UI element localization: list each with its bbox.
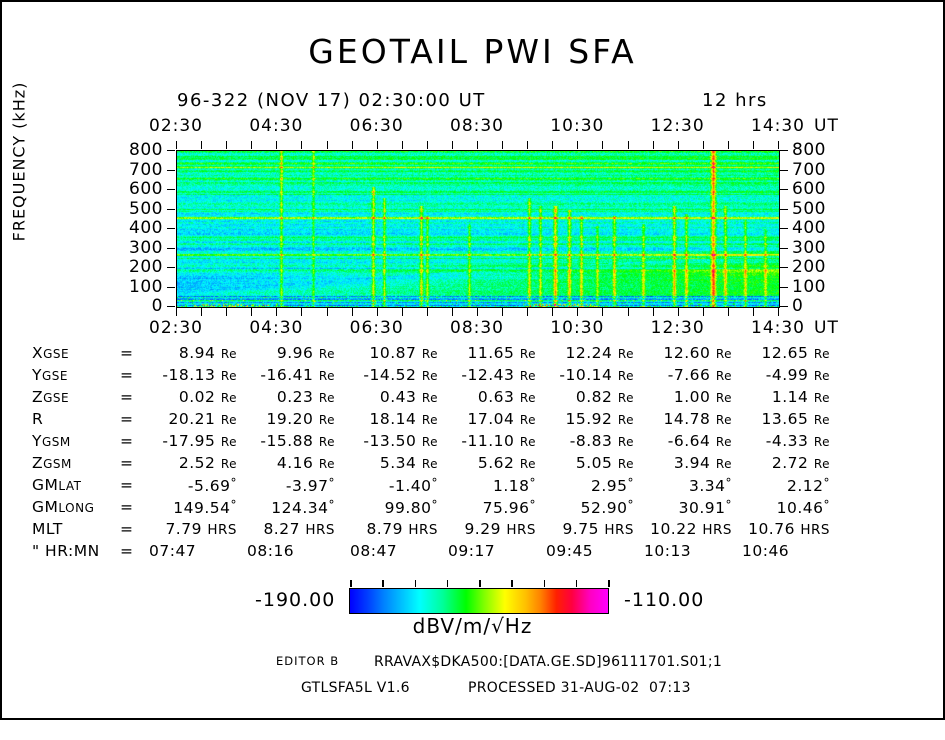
- x-tick-bottom-21: [703, 308, 704, 316]
- y-tick-left-1: [167, 170, 175, 171]
- ephemeris-table: XGSE=8.94 Re9.96 Re10.87 Re11.65 Re12.24…: [32, 344, 922, 564]
- footer-line-1: EDITOR B RRAVAX$DKA500:[DATA.GE.SD]96111…: [2, 654, 943, 680]
- ephemeris-cell: -10.14 Re: [544, 366, 634, 384]
- ephemeris-cell: 5.62 Re: [446, 454, 536, 472]
- y-tick-right-8: [780, 306, 788, 307]
- ephemeris-cell: 2.72 Re: [740, 454, 830, 472]
- ephemeris-cell: -17.95 Re: [147, 432, 237, 450]
- ephemeris-cell: 2.95°: [562, 476, 634, 495]
- ephemeris-cell: 8.27 HRS: [245, 520, 335, 538]
- ut-label-top: UT: [814, 116, 839, 136]
- ephemeris-row-label: YGSM: [32, 432, 71, 450]
- ephemeris-cell: 13.65 Re: [740, 410, 830, 428]
- ephemeris-unit: Re: [814, 457, 830, 471]
- y-tick-right-6: [780, 267, 788, 268]
- degree-symbol: °: [231, 498, 238, 512]
- ephemeris-row: YGSM=-17.95 Re-15.88 Re-13.50 Re-11.10 R…: [32, 432, 922, 454]
- ephemeris-cell: -14.52 Re: [348, 366, 438, 384]
- freq-tick-left-3: 500: [103, 199, 163, 219]
- colorbar-tick-1: [382, 580, 384, 587]
- observation-datetime: 96-322 (NOV 17) 02:30:00 UT: [177, 90, 486, 111]
- x-tick-top-1: [201, 141, 202, 149]
- ephemeris-cell: -12.43 Re: [446, 366, 536, 384]
- colorbar-tick-6: [544, 580, 546, 587]
- ephemeris-cell: 99.80°: [366, 498, 438, 517]
- y-tick-left-0: [167, 150, 175, 151]
- x-tick-bottom-7: [352, 308, 353, 316]
- freq-tick-right-2: 600: [792, 179, 852, 199]
- ephemeris-equals: =: [120, 388, 134, 406]
- ephemeris-cell: 9.29 HRS: [446, 520, 536, 538]
- colorbar-max-label: -110.00: [624, 589, 704, 611]
- ephemeris-cell: 09:17: [448, 542, 536, 560]
- ephemeris-cell: -11.10 Re: [446, 432, 536, 450]
- x-tick-top-18: [628, 141, 629, 149]
- ephemeris-equals: =: [120, 498, 134, 516]
- freq-tick-left-4: 400: [103, 218, 163, 238]
- ephemeris-cell: -3.97°: [263, 476, 335, 495]
- x-tick-top-13: [502, 141, 503, 149]
- y-tick-left-3: [167, 209, 175, 210]
- ephemeris-unit: Re: [520, 347, 536, 361]
- x-tick-bottom-1: [201, 308, 202, 316]
- y-tick-right-0: [780, 150, 788, 151]
- ephemeris-row: ZGSM=2.52 Re4.16 Re5.34 Re5.62 Re5.05 Re…: [32, 454, 922, 476]
- colorbar-section: -190.00 -110.00 dBV/m/√Hz: [2, 584, 943, 634]
- ephemeris-equals: =: [120, 520, 134, 538]
- ephemeris-cell: 08:16: [247, 542, 335, 560]
- ephemeris-unit: Re: [520, 413, 536, 427]
- processed-timestamp: PROCESSED 31-AUG-02 07:13: [468, 680, 691, 696]
- y-tick-right-7: [780, 287, 788, 288]
- ephemeris-unit: Re: [520, 369, 536, 383]
- ephemeris-unit: Re: [221, 413, 237, 427]
- ephemeris-row-label: GMLAT: [32, 476, 81, 494]
- freq-tick-left-2: 600: [103, 179, 163, 199]
- ephemeris-cell: -13.50 Re: [348, 432, 438, 450]
- ephemeris-cell: 08:47: [350, 542, 438, 560]
- x-tick-top-9: [402, 141, 403, 149]
- x-tick-bottom-17: [602, 308, 603, 316]
- y-tick-left-5: [167, 248, 175, 249]
- ephemeris-cell: 52.90°: [562, 498, 634, 517]
- ephemeris-unit: Re: [814, 369, 830, 383]
- time-tick-bottom-1: 04:30: [249, 318, 303, 338]
- ephemeris-cell: 5.05 Re: [544, 454, 634, 472]
- ephemeris-cell: 5.34 Re: [348, 454, 438, 472]
- x-tick-bottom-6: [327, 308, 328, 316]
- ephemeris-unit: Re: [520, 435, 536, 449]
- ephemeris-row: " HR:MN=07:4708:1608:4709:1709:4510:1310…: [32, 542, 922, 564]
- degree-symbol: °: [628, 476, 635, 490]
- ephemeris-cell: -18.13 Re: [147, 366, 237, 384]
- time-tick-top-5: 12:30: [651, 116, 705, 136]
- ephemeris-row: GMLONG=149.54°124.34°99.80°75.96°52.90°3…: [32, 498, 922, 520]
- ephemeris-unit: Re: [221, 435, 237, 449]
- ephemeris-row: YGSE=-18.13 Re-16.41 Re-14.52 Re-12.43 R…: [32, 366, 922, 388]
- ephemeris-unit: Re: [618, 347, 634, 361]
- x-tick-top-3: [251, 141, 252, 149]
- ephemeris-cell: 20.21 Re: [147, 410, 237, 428]
- ephemeris-equals: =: [120, 542, 134, 560]
- ephemeris-unit: Re: [221, 457, 237, 471]
- freq-tick-left-6: 200: [103, 257, 163, 277]
- ephemeris-cell: 0.43 Re: [348, 388, 438, 406]
- degree-symbol: °: [726, 498, 733, 512]
- ephemeris-unit: HRS: [800, 522, 830, 538]
- degree-symbol: °: [726, 476, 733, 490]
- ephemeris-cell: 75.96°: [464, 498, 536, 517]
- ephemeris-unit: HRS: [702, 522, 732, 538]
- ephemeris-equals: =: [120, 432, 134, 450]
- x-tick-top-2: [226, 141, 227, 149]
- ephemeris-cell: 9.96 Re: [245, 344, 335, 362]
- ephemeris-unit: HRS: [408, 522, 438, 538]
- ephemeris-unit: Re: [319, 457, 335, 471]
- y-tick-right-2: [780, 189, 788, 190]
- ephemeris-row-label: " HR:MN: [32, 542, 100, 560]
- ephemeris-unit: Re: [814, 391, 830, 405]
- ephemeris-cell: 2.52 Re: [147, 454, 237, 472]
- ephemeris-row-label: MLT: [32, 520, 63, 538]
- ephemeris-unit: Re: [422, 413, 438, 427]
- freq-tick-right-8: 0: [792, 296, 852, 316]
- x-tick-bottom-23: [753, 308, 754, 316]
- x-tick-top-22: [728, 141, 729, 149]
- ephemeris-cell: 0.82 Re: [544, 388, 634, 406]
- ephemeris-unit: Re: [319, 347, 335, 361]
- x-tick-top-23: [753, 141, 754, 149]
- freq-tick-left-7: 100: [103, 277, 163, 297]
- subtitle-row: 96-322 (NOV 17) 02:30:00 UT 12 hrs: [2, 90, 943, 112]
- ephemeris-unit: HRS: [604, 522, 634, 538]
- degree-symbol: °: [824, 498, 831, 512]
- ephemeris-unit: Re: [422, 435, 438, 449]
- ephemeris-cell: 8.79 HRS: [348, 520, 438, 538]
- freq-tick-left-8: 0: [103, 296, 163, 316]
- ephemeris-equals: =: [120, 366, 134, 384]
- y-tick-right-3: [780, 209, 788, 210]
- freq-tick-right-7: 100: [792, 277, 852, 297]
- x-tick-top-24: [778, 141, 779, 149]
- degree-symbol: °: [628, 498, 635, 512]
- degree-symbol: °: [530, 498, 537, 512]
- time-axis-bottom: UT 02:3004:3006:3008:3010:3012:3014:30: [2, 318, 945, 338]
- y-tick-right-4: [780, 228, 788, 229]
- ephemeris-unit: Re: [520, 391, 536, 405]
- ephemeris-unit: Re: [618, 457, 634, 471]
- time-tick-bottom-2: 06:30: [350, 318, 404, 338]
- ephemeris-cell: -4.33 Re: [740, 432, 830, 450]
- ephemeris-cell: 2.12°: [758, 476, 830, 495]
- x-tick-top-16: [577, 141, 578, 149]
- colorbar-gradient: [349, 588, 609, 614]
- y-tick-left-4: [167, 228, 175, 229]
- x-tick-bottom-2: [226, 308, 227, 316]
- x-tick-bottom-11: [452, 308, 453, 316]
- ephemeris-row: MLT=7.79 HRS8.27 HRS8.79 HRS9.29 HRS9.75…: [32, 520, 922, 542]
- ephemeris-unit: Re: [221, 391, 237, 405]
- ephemeris-unit: Re: [716, 391, 732, 405]
- x-tick-bottom-16: [577, 308, 578, 316]
- ephemeris-equals: =: [120, 454, 134, 472]
- x-tick-top-7: [352, 141, 353, 149]
- ephemeris-row: ZGSE=0.02 Re0.23 Re0.43 Re0.63 Re0.82 Re…: [32, 388, 922, 410]
- ephemeris-row-label: YGSE: [32, 366, 68, 384]
- x-tick-top-8: [377, 141, 378, 149]
- time-tick-bottom-3: 08:30: [450, 318, 504, 338]
- degree-symbol: °: [824, 476, 831, 490]
- footer: EDITOR B RRAVAX$DKA500:[DATA.GE.SD]96111…: [2, 654, 943, 706]
- ephemeris-cell: 124.34°: [263, 498, 335, 517]
- x-tick-bottom-20: [678, 308, 679, 316]
- ephemeris-equals: =: [120, 410, 134, 428]
- ephemeris-unit: Re: [716, 435, 732, 449]
- ephemeris-row: XGSE=8.94 Re9.96 Re10.87 Re11.65 Re12.24…: [32, 344, 922, 366]
- ephemeris-cell: 15.92 Re: [544, 410, 634, 428]
- x-tick-top-17: [602, 141, 603, 149]
- x-tick-top-20: [678, 141, 679, 149]
- ephemeris-unit: Re: [716, 413, 732, 427]
- x-tick-bottom-8: [377, 308, 378, 316]
- page-title: GEOTAIL PWI SFA: [2, 32, 943, 71]
- degree-symbol: °: [231, 476, 238, 490]
- x-tick-bottom-19: [653, 308, 654, 316]
- x-tick-top-4: [276, 141, 277, 149]
- ephemeris-cell: 0.63 Re: [446, 388, 536, 406]
- ephemeris-cell: 9.75 HRS: [544, 520, 634, 538]
- ephemeris-unit: Re: [716, 369, 732, 383]
- ephemeris-cell: -15.88 Re: [245, 432, 335, 450]
- y-axis-label: FREQUENCY (kHz): [10, 82, 29, 242]
- ephemeris-row-label: ZGSM: [32, 454, 72, 472]
- time-tick-top-4: 10:30: [550, 116, 604, 136]
- x-tick-bottom-5: [301, 308, 302, 316]
- colorbar-unit-label: dBV/m/√Hz: [2, 614, 943, 638]
- ephemeris-cell: -4.99 Re: [740, 366, 830, 384]
- ephemeris-unit: Re: [618, 435, 634, 449]
- ephemeris-cell: 14.78 Re: [642, 410, 732, 428]
- time-tick-bottom-4: 10:30: [550, 318, 604, 338]
- ephemeris-unit: Re: [319, 391, 335, 405]
- time-tick-top-0: 02:30: [149, 116, 203, 136]
- ephemeris-cell: 3.94 Re: [642, 454, 732, 472]
- ephemeris-cell: 10.22 HRS: [642, 520, 732, 538]
- ephemeris-cell: 07:47: [149, 542, 237, 560]
- x-tick-top-12: [477, 141, 478, 149]
- ephemeris-cell: 18.14 Re: [348, 410, 438, 428]
- x-tick-bottom-18: [628, 308, 629, 316]
- ephemeris-unit: Re: [422, 347, 438, 361]
- ephemeris-cell: 0.23 Re: [245, 388, 335, 406]
- time-axis-top: UT 02:3004:3006:3008:3010:3012:3014:30: [2, 116, 945, 136]
- ephemeris-cell: 11.65 Re: [446, 344, 536, 362]
- ephemeris-row-sublabel: GSE: [43, 391, 69, 405]
- ephemeris-unit: Re: [618, 369, 634, 383]
- ephemeris-unit: Re: [221, 369, 237, 383]
- time-tick-top-3: 08:30: [450, 116, 504, 136]
- ephemeris-cell: 8.94 Re: [147, 344, 237, 362]
- x-tick-top-6: [327, 141, 328, 149]
- ephemeris-cell: -7.66 Re: [642, 366, 732, 384]
- x-tick-top-19: [653, 141, 654, 149]
- degree-symbol: °: [432, 476, 439, 490]
- ephemeris-unit: Re: [716, 347, 732, 361]
- spectrogram-plot: [176, 150, 780, 308]
- data-file-path: RRAVAX$DKA500:[DATA.GE.SD]96111701.S01;1: [374, 654, 722, 670]
- time-tick-bottom-5: 12:30: [651, 318, 705, 338]
- ephemeris-unit: HRS: [305, 522, 335, 538]
- colorbar-tick-4: [479, 580, 481, 587]
- x-tick-top-21: [703, 141, 704, 149]
- ephemeris-unit: Re: [520, 457, 536, 471]
- ephemeris-row: R=20.21 Re19.20 Re18.14 Re17.04 Re15.92 …: [32, 410, 922, 432]
- ephemeris-cell: 12.24 Re: [544, 344, 634, 362]
- ephemeris-cell: 1.00 Re: [642, 388, 732, 406]
- editor-label: EDITOR B: [276, 654, 339, 668]
- degree-symbol: °: [329, 498, 336, 512]
- ephemeris-row-label: R: [32, 410, 43, 428]
- ephemeris-row-label: ZGSE: [32, 388, 69, 406]
- x-tick-bottom-3: [251, 308, 252, 316]
- ephemeris-cell: 4.16 Re: [245, 454, 335, 472]
- observation-duration: 12 hrs: [702, 90, 768, 111]
- ephemeris-cell: 3.34°: [660, 476, 732, 495]
- ephemeris-unit: Re: [716, 457, 732, 471]
- footer-line-2: GTLSFA5L V1.6 PROCESSED 31-AUG-02 07:13: [2, 680, 943, 706]
- ephemeris-cell: 10.46°: [758, 498, 830, 517]
- ephemeris-row-sublabel: GSE: [42, 369, 68, 383]
- time-tick-top-2: 06:30: [350, 116, 404, 136]
- ephemeris-unit: Re: [618, 391, 634, 405]
- freq-tick-left-1: 700: [103, 160, 163, 180]
- ephemeris-cell: 17.04 Re: [446, 410, 536, 428]
- time-tick-top-1: 04:30: [249, 116, 303, 136]
- x-tick-bottom-10: [427, 308, 428, 316]
- ephemeris-cell: -1.40°: [366, 476, 438, 495]
- ephemeris-cell: -16.41 Re: [245, 366, 335, 384]
- ephemeris-row-label: XGSE: [32, 344, 69, 362]
- ephemeris-unit: Re: [319, 369, 335, 383]
- ephemeris-unit: Re: [422, 457, 438, 471]
- x-tick-bottom-14: [527, 308, 528, 316]
- ephemeris-unit: Re: [221, 347, 237, 361]
- ephemeris-cell: 10:13: [644, 542, 732, 560]
- ephemeris-row-label: GMLONG: [32, 498, 94, 516]
- software-version: GTLSFA5L V1.6: [301, 680, 410, 696]
- degree-symbol: °: [329, 476, 336, 490]
- ephemeris-cell: 7.79 HRS: [147, 520, 237, 538]
- colorbar-min-label: -190.00: [255, 589, 335, 611]
- ephemeris-unit: Re: [319, 413, 335, 427]
- x-tick-bottom-13: [502, 308, 503, 316]
- colorbar-tick-8: [608, 580, 610, 587]
- x-tick-bottom-22: [728, 308, 729, 316]
- ephemeris-unit: HRS: [207, 522, 237, 538]
- x-tick-bottom-4: [276, 308, 277, 316]
- time-tick-bottom-0: 02:30: [149, 318, 203, 338]
- ephemeris-cell: 1.14 Re: [740, 388, 830, 406]
- ephemeris-unit: HRS: [506, 522, 536, 538]
- ut-label-bottom: UT: [814, 318, 839, 338]
- ephemeris-cell: 10.87 Re: [348, 344, 438, 362]
- x-tick-top-10: [427, 141, 428, 149]
- ephemeris-cell: 10:46: [742, 542, 830, 560]
- freq-tick-right-1: 700: [792, 160, 852, 180]
- x-tick-bottom-0: [176, 308, 177, 316]
- ephemeris-cell: 30.91°: [660, 498, 732, 517]
- ephemeris-unit: Re: [422, 391, 438, 405]
- colorbar-tick-2: [415, 580, 417, 587]
- ephemeris-cell: 12.60 Re: [642, 344, 732, 362]
- colorbar-tick-3: [447, 580, 449, 587]
- ephemeris-row-sublabel: LAT: [58, 479, 81, 493]
- y-tick-right-5: [780, 248, 788, 249]
- x-tick-top-11: [452, 141, 453, 149]
- colorbar-tick-5: [511, 580, 513, 587]
- x-tick-top-5: [301, 141, 302, 149]
- ephemeris-unit: Re: [422, 369, 438, 383]
- ephemeris-cell: 12.65 Re: [740, 344, 830, 362]
- plot-page: GEOTAIL PWI SFA 96-322 (NOV 17) 02:30:00…: [0, 0, 945, 720]
- ephemeris-row-sublabel: GSM: [43, 457, 72, 471]
- ephemeris-cell: 09:45: [546, 542, 634, 560]
- ephemeris-cell: 1.18°: [464, 476, 536, 495]
- ephemeris-row: GMLAT=-5.69°-3.97°-1.40°1.18°2.95°3.34°2…: [32, 476, 922, 498]
- time-tick-top-6: 14:30: [751, 116, 805, 136]
- ephemeris-row-sublabel: GSE: [43, 347, 69, 361]
- ephemeris-cell: -6.64 Re: [642, 432, 732, 450]
- ephemeris-unit: Re: [814, 413, 830, 427]
- ephemeris-cell: -5.69°: [165, 476, 237, 495]
- colorbar-tick-7: [576, 580, 578, 587]
- freq-tick-right-0: 800: [792, 140, 852, 160]
- x-tick-bottom-12: [477, 308, 478, 316]
- y-tick-left-7: [167, 287, 175, 288]
- x-tick-top-14: [527, 141, 528, 149]
- freq-tick-right-4: 400: [792, 218, 852, 238]
- x-tick-bottom-15: [552, 308, 553, 316]
- freq-tick-left-0: 800: [103, 140, 163, 160]
- ephemeris-unit: Re: [814, 435, 830, 449]
- degree-symbol: °: [432, 498, 439, 512]
- colorbar-tick-0: [350, 580, 352, 587]
- freq-tick-left-5: 300: [103, 238, 163, 258]
- freq-tick-right-3: 500: [792, 199, 852, 219]
- ephemeris-row-sublabel: GSM: [42, 435, 71, 449]
- degree-symbol: °: [530, 476, 537, 490]
- ephemeris-cell: -8.83 Re: [544, 432, 634, 450]
- ephemeris-unit: Re: [814, 347, 830, 361]
- spectrogram-canvas: [177, 151, 779, 307]
- freq-tick-right-5: 300: [792, 238, 852, 258]
- y-tick-left-6: [167, 267, 175, 268]
- y-tick-left-8: [167, 306, 175, 307]
- ephemeris-cell: 0.02 Re: [147, 388, 237, 406]
- y-tick-left-2: [167, 189, 175, 190]
- x-tick-top-0: [176, 141, 177, 149]
- ephemeris-cell: 19.20 Re: [245, 410, 335, 428]
- freq-tick-right-6: 200: [792, 257, 852, 277]
- ephemeris-unit: Re: [319, 435, 335, 449]
- y-tick-right-1: [780, 170, 788, 171]
- ephemeris-cell: 10.76 HRS: [740, 520, 830, 538]
- x-tick-bottom-24: [778, 308, 779, 316]
- ephemeris-unit: Re: [618, 413, 634, 427]
- ephemeris-row-sublabel: LONG: [58, 501, 94, 515]
- time-tick-bottom-6: 14:30: [751, 318, 805, 338]
- ephemeris-cell: 149.54°: [165, 498, 237, 517]
